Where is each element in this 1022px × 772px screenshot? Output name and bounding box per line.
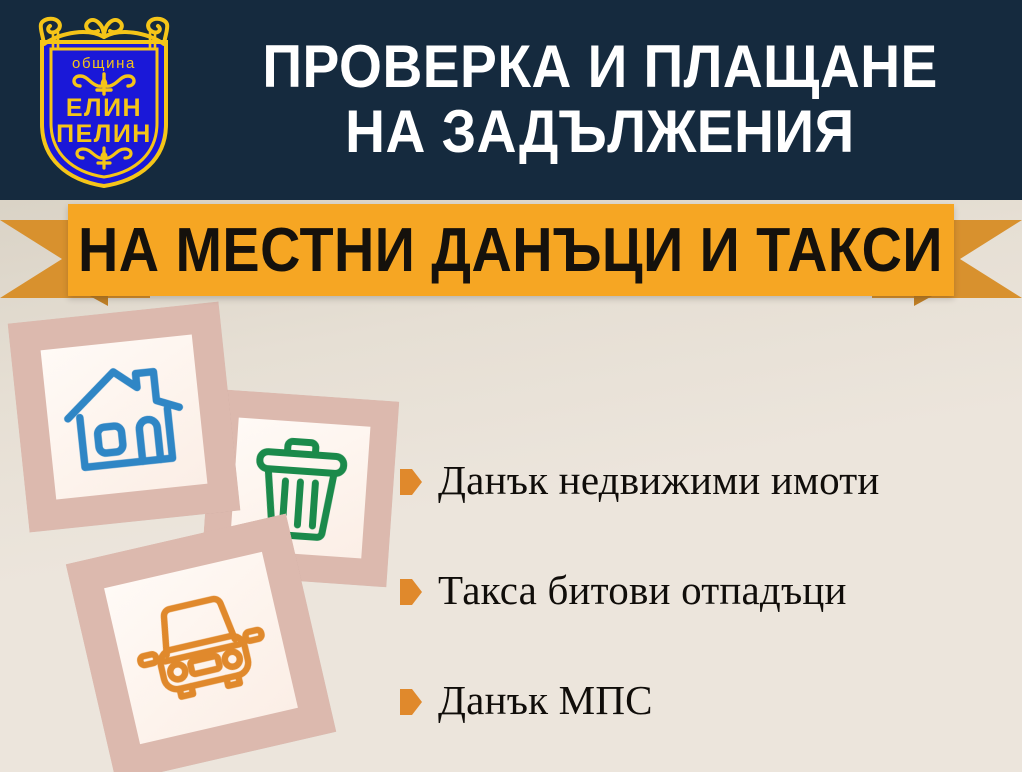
page-title-line-1: ПРОВЕРКА И ПЛАЩАНЕ (262, 38, 937, 97)
ribbon-subtitle: НА МЕСТНИ ДАНЪЦИ И ТАКСИ (79, 215, 944, 286)
list-item-label: Такса битови отпадъци (438, 566, 847, 614)
page-title: ПРОВЕРКА И ПЛАЩАНЕ НА ЗАДЪЛЖЕНИЯ (190, 20, 1010, 180)
list-item[interactable]: Данък МПС (400, 645, 1010, 755)
svg-text:ПЕЛИН: ПЕЛИН (56, 120, 152, 148)
page-title-line-2: НА ЗАДЪЛЖЕНИЯ (345, 103, 855, 162)
coat-of-arms-icon: община ЕЛИН ПЕЛИН (20, 6, 188, 192)
stamp-paper-house (41, 334, 208, 499)
ribbon-banner: НА МЕСТНИ ДАНЪЦИ И ТАКСИ (0, 196, 1022, 308)
bullet-arrow-icon (400, 579, 422, 605)
header-band: община ЕЛИН ПЕЛИН ПРОВЕРКА И ПЛ (0, 0, 1022, 200)
list-item-label: Данък МПС (438, 676, 653, 724)
house-icon (56, 355, 191, 479)
tax-type-list: Данък недвижими имоти Такса битови отпад… (400, 425, 1010, 755)
bullet-arrow-icon (400, 469, 422, 495)
list-item[interactable]: Данък недвижими имоти (400, 425, 1010, 535)
stamp-card-house (8, 301, 241, 532)
municipality-logo: община ЕЛИН ПЕЛИН (20, 6, 188, 192)
poster-canvas: община ЕЛИН ПЕЛИН ПРОВЕРКА И ПЛ (0, 0, 1022, 772)
ribbon-main-panel: НА МЕСТНИ ДАНЪЦИ И ТАКСИ (68, 204, 954, 296)
list-item[interactable]: Такса битови отпадъци (400, 535, 1010, 645)
svg-text:ЕЛИН: ЕЛИН (66, 94, 142, 122)
bullet-arrow-icon (400, 689, 422, 715)
list-item-label: Данък недвижими имоти (438, 456, 880, 504)
car-front-icon (124, 580, 277, 717)
svg-text:община: община (72, 55, 136, 72)
stamp-paper-car (104, 552, 298, 744)
